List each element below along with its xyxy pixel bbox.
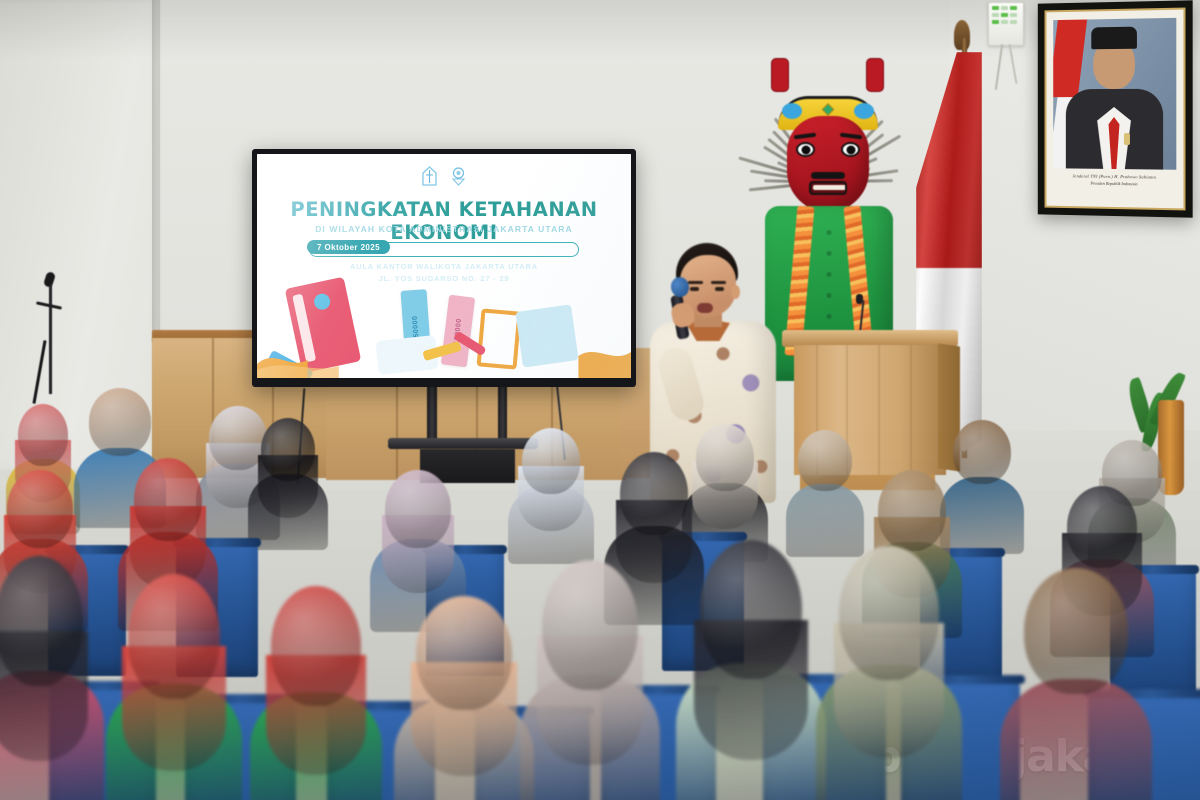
- audience-member: [250, 586, 382, 800]
- audience-row: [0, 0, 1200, 800]
- audience-hijab-head: [416, 596, 511, 710]
- audience-hijab-head: [700, 540, 802, 679]
- audience-hijab-head: [0, 556, 83, 686]
- audience-member: [106, 574, 242, 800]
- audience-head: [1024, 568, 1127, 694]
- audience-member: [0, 556, 104, 800]
- audience-member: [520, 560, 660, 800]
- photo-canvas: Jenderal TNI (Purn.) H. Prabowo Subianto…: [0, 0, 1200, 800]
- audience-member: [394, 596, 534, 800]
- audience-shoulders: [1000, 679, 1152, 800]
- audience-member: [816, 546, 962, 800]
- audience-hijab-head: [271, 586, 361, 706]
- audience-hijab-head: [542, 560, 637, 690]
- audience-hijab-head: [128, 574, 220, 699]
- audience-member: [676, 540, 826, 800]
- audience-hijab-head: [839, 546, 938, 680]
- audience-member: [1000, 568, 1152, 800]
